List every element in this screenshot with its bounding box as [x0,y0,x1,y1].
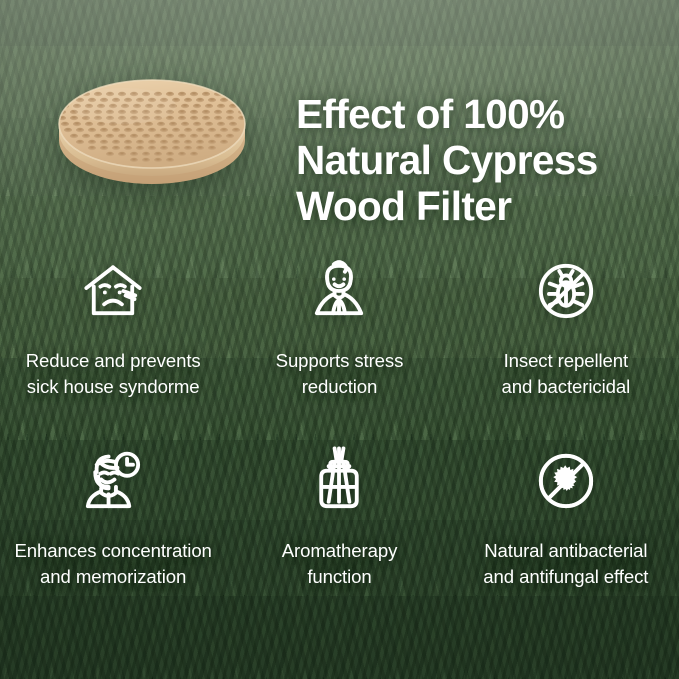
person-with-clock-icon [76,444,150,518]
benefit-label: Supports stress reduction [270,348,410,400]
headline-line-1: Effect of 100% [296,91,672,137]
benefit-label: Aromatherapy function [276,538,404,590]
benefit-item-stress-reduction: Supports stress reduction [226,244,452,434]
headline-line-2: Natural Cypress [296,137,672,183]
benefit-label-line: and antifungal effect [483,564,648,590]
benefit-label-line: Enhances concentration [15,538,212,564]
benefit-label-line: and bactericidal [502,374,631,400]
benefit-grid: Reduce and prevents sick house syndorme [0,244,679,624]
benefit-label-line: Insect repellent [502,348,631,374]
benefit-item-sick-house-syndrome: Reduce and prevents sick house syndorme [0,244,226,434]
product-infographic-poster: Effect of 100% Natural Cypress Wood Filt… [0,0,679,679]
benefit-label-line: Natural antibacterial [483,538,648,564]
benefit-label: Enhances concentration and memorization [9,538,218,590]
no-insect-icon [529,254,603,328]
headline-line-3: Wood Filter [296,183,672,229]
benefit-label-line: Reduce and prevents [26,348,201,374]
no-germ-icon [529,444,603,518]
sad-house-icon [76,254,150,328]
benefit-label-line: function [282,564,398,590]
benefit-label-line: Supports stress [276,348,404,374]
benefit-label: Reduce and prevents sick house syndorme [20,348,207,400]
benefit-label: Natural antibacterial and antifungal eff… [477,538,654,590]
benefit-item-concentration: Enhances concentration and memorization [0,434,226,624]
benefit-label-line: sick house syndorme [26,374,201,400]
cypress-wood-filter-image [52,72,252,200]
benefit-label-line: and memorization [15,564,212,590]
benefit-item-insect-repellent: Insect repellent and bactericidal [453,244,679,434]
reed-diffuser-icon [302,444,376,518]
page-title: Effect of 100% Natural Cypress Wood Filt… [296,91,672,229]
benefit-item-antibacterial: Natural antibacterial and antifungal eff… [453,434,679,624]
benefit-item-aromatherapy: Aromatherapy function [226,434,452,624]
benefit-label: Insect repellent and bactericidal [496,348,637,400]
meditating-person-icon [302,254,376,328]
benefit-label-line: Aromatherapy [282,538,398,564]
benefit-label-line: reduction [276,374,404,400]
